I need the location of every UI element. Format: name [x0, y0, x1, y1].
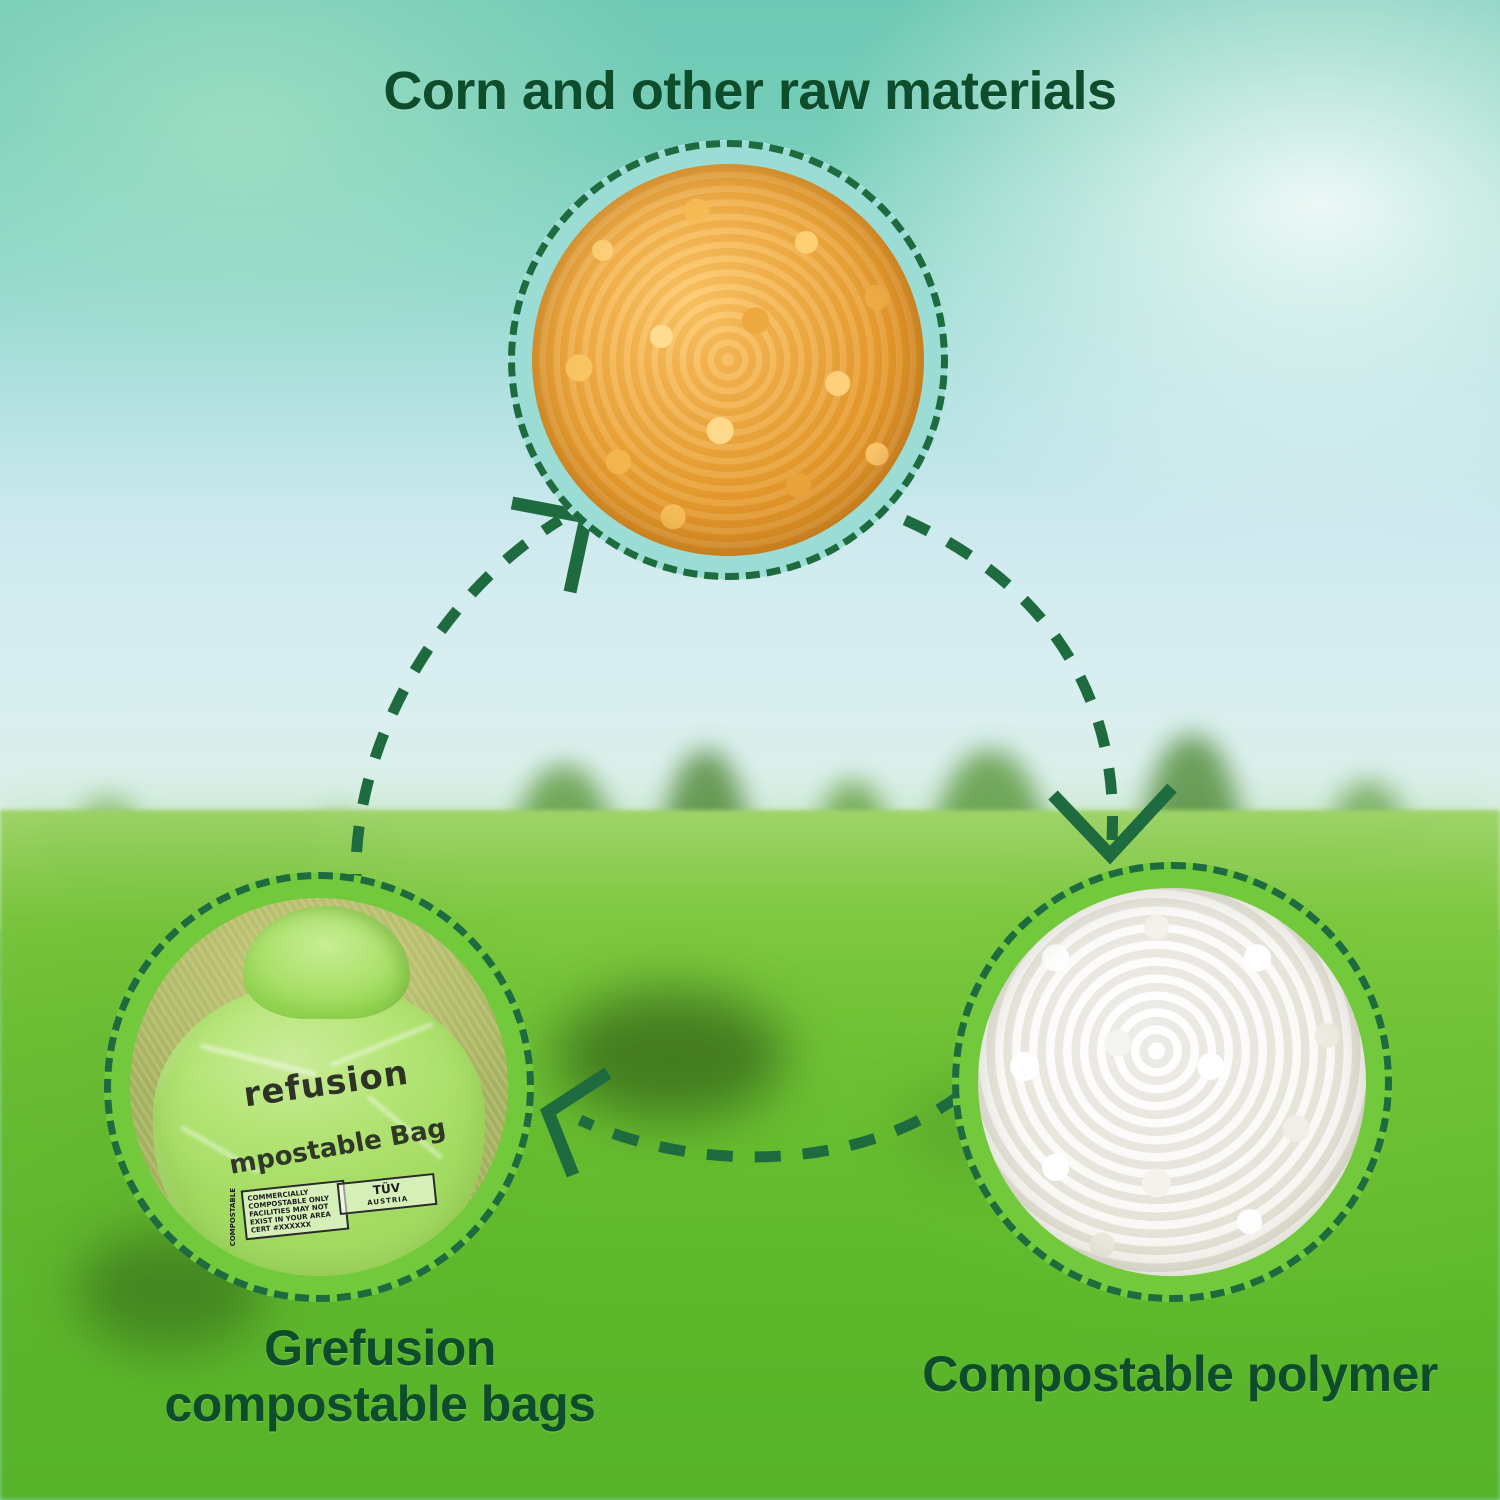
tuv-label: TÜV	[372, 1180, 401, 1197]
corn-kernels-photo	[532, 164, 924, 556]
label-polymer: Compostable polymer	[870, 1345, 1490, 1403]
bag-knot	[243, 906, 409, 1019]
blurred-shadow	[555, 990, 785, 1120]
infographic-canvas: refusion mpostable Bag COMPOSTABLE COMME…	[0, 0, 1500, 1500]
node-polymer[interactable]	[952, 862, 1392, 1302]
label-bags: Grefusion compostable bags	[120, 1320, 640, 1432]
node-bags[interactable]: refusion mpostable Bag COMPOSTABLE COMME…	[104, 872, 534, 1302]
label-bags-line1: Grefusion	[120, 1320, 640, 1376]
bag-cert-side-text: COMPOSTABLE	[225, 1185, 241, 1249]
label-bags-line2: compostable bags	[120, 1376, 640, 1432]
node-corn[interactable]	[508, 140, 948, 580]
white-polymer-pellets-photo	[978, 888, 1366, 1276]
label-corn: Corn and other raw materials	[0, 60, 1500, 122]
green-compostable-bag-photo: refusion mpostable Bag COMPOSTABLE COMME…	[130, 898, 508, 1276]
